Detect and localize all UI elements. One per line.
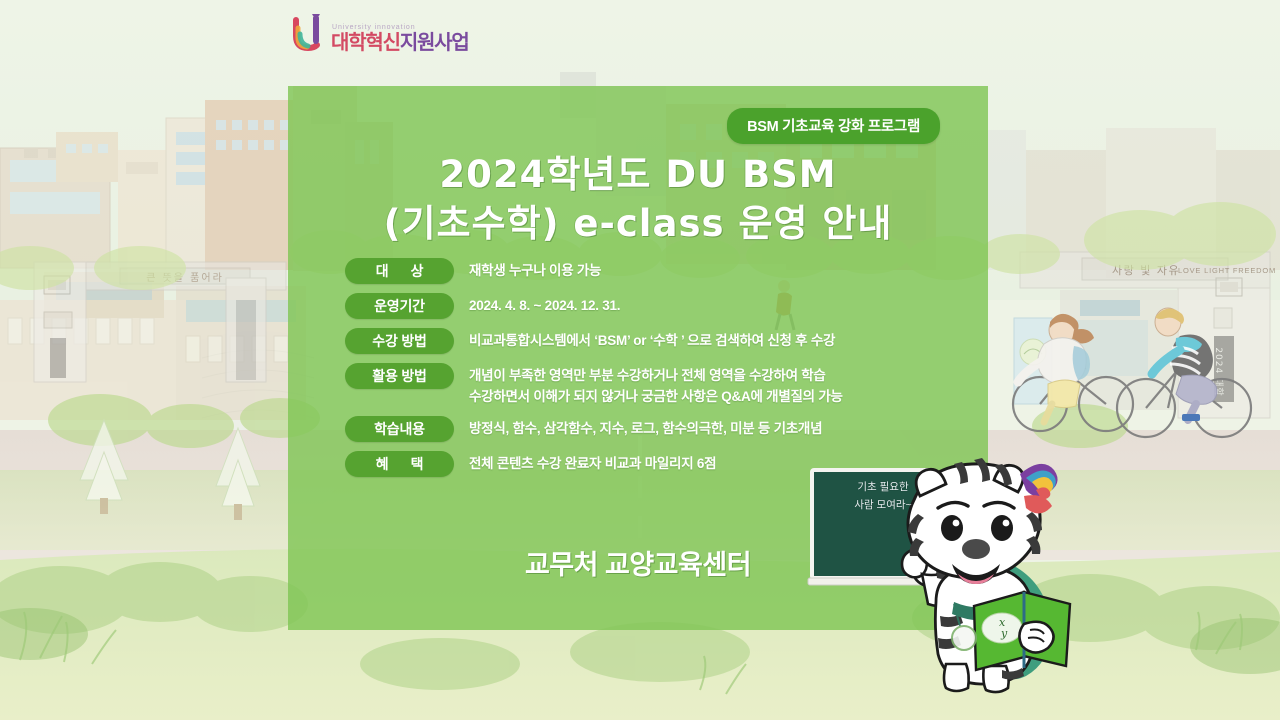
logo-english-text: University innovation [332, 24, 469, 31]
info-row: 활용 방법 개념이 부족한 영역만 부분 수강하거나 전체 영역을 수강하여 학… [345, 363, 958, 407]
info-value: 전체 콘텐츠 수강 완료자 비교과 마일리지 6점 [469, 451, 716, 475]
info-row: 운영기간 2024. 4. 8. ~ 2024. 12. 31. [345, 293, 958, 319]
tiger-right-eye [991, 515, 1013, 541]
info-label: 활용 방법 [345, 363, 454, 389]
u-shape-logo-icon [292, 14, 326, 54]
book-label-y: y [1000, 627, 1008, 640]
info-label: 운영기간 [345, 293, 454, 319]
info-row: 수강 방법 비교과통합시스템에서 ‘BSM’ or ‘수학 ’ 으로 검색하여 … [345, 328, 958, 354]
info-label: 수강 방법 [345, 328, 454, 354]
info-label: 학습내용 [345, 416, 454, 442]
info-value: 재학생 누구나 이용 가능 [469, 258, 601, 282]
info-label: 혜 택 [345, 451, 454, 477]
tiger-nose [962, 539, 990, 559]
tiger-left-eye [941, 515, 963, 541]
info-row: 대 상 재학생 누구나 이용 가능 [345, 258, 958, 284]
svg-text:LOVE LIGHT FREEDOM: LOVE LIGHT FREEDOM [1178, 266, 1276, 275]
program-badge: BSM 기초교육 강화 프로그램 [727, 108, 940, 144]
blackboard-line1: 기초 필요한 [828, 478, 938, 496]
logo-korean-part1: 대학혁신 [331, 32, 400, 54]
info-label: 대 상 [345, 258, 454, 284]
poster-title: 2024학년도 DU BSM (기초수학) e-class 운영 안내 [288, 150, 988, 248]
logo-korean-text: 대학혁신지원사업 [331, 33, 469, 53]
university-innovation-logo: University innovation 대학혁신지원사업 [292, 14, 469, 54]
info-table: 대 상 재학생 누구나 이용 가능 운영기간 2024. 4. 8. ~ 202… [345, 258, 958, 477]
mascot-group: x y [806, 452, 1116, 702]
blackboard-line2: 사람 모여라~ [828, 496, 938, 514]
poster-title-line1: 2024학년도 DU BSM [288, 150, 988, 199]
poster-title-line2: (기초수학) e-class 운영 안내 [288, 199, 988, 248]
info-value: 비교과통합시스템에서 ‘BSM’ or ‘수학 ’ 으로 검색하여 신청 후 수… [469, 328, 835, 352]
logo-korean-part2: 지원사업 [400, 32, 469, 54]
info-value: 개념이 부족한 영역만 부분 수강하거나 전체 영역을 수강하여 학습 수강하면… [469, 363, 843, 407]
info-row: 학습내용 방정식, 함수, 삼각함수, 지수, 로그, 함수의극한, 미분 등 … [345, 416, 958, 442]
blackboard-caption: 기초 필요한 사람 모여라~ [828, 478, 938, 515]
info-value: 방정식, 함수, 삼각함수, 지수, 로그, 함수의극한, 미분 등 기초개념 [469, 416, 822, 440]
info-value: 2024. 4. 8. ~ 2024. 12. 31. [469, 293, 620, 317]
